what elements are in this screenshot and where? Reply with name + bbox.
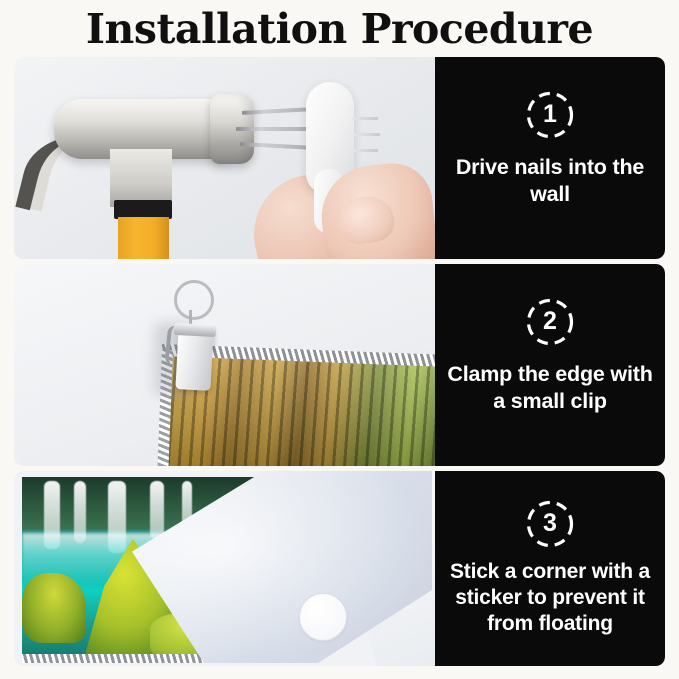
dashed-circle-number-icon: 1 [525,90,575,140]
step-caption-text: Stick a corner with a sticker to prevent… [440,559,660,637]
page-title: Installation Procedure [0,4,679,54]
hammer-and-wall-hook-photo [14,57,435,259]
binder-clip-on-tapestry-photo [14,264,435,466]
step-caption-1: 1 Drive nails into the wall [435,57,665,259]
nail-tip-shape [352,149,378,152]
clip-ring-icon [174,280,214,320]
step-number: 2 [543,309,557,334]
nail-shape [236,127,316,131]
step-row-2: 2 Clamp the edge with a small clip [14,264,665,466]
installation-procedure-infographic: Installation Procedure [0,0,679,679]
step-number: 1 [543,102,557,127]
adhesive-sticker-icon [299,593,347,641]
steps-list: 1 Drive nails into the wall [14,57,665,666]
step-caption-2: 2 Clamp the edge with a small clip [435,264,665,466]
hammer-neck-shape [110,149,172,207]
dashed-circle-number-icon: 3 [525,499,575,549]
step-row-3: 3 Stick a corner with a sticker to preve… [14,471,665,666]
step-caption-text: Drive nails into the wall [444,154,656,208]
step-caption-text: Clamp the edge with a small clip [444,361,656,415]
nail-tip-shape [352,117,378,120]
waterfall-stream [150,481,164,539]
nail-tip-shape [354,133,380,136]
binder-clip-top-shape [174,323,217,337]
dashed-circle-number-icon: 2 [525,297,575,347]
mossy-rock [22,573,86,643]
step-row-1: 1 Drive nails into the wall [14,57,665,259]
step-number: 3 [543,511,557,536]
hammer-handle-shape [118,217,169,259]
tapestry-corner-sticker-photo [14,471,435,666]
step-caption-3: 3 Stick a corner with a sticker to preve… [435,471,665,666]
